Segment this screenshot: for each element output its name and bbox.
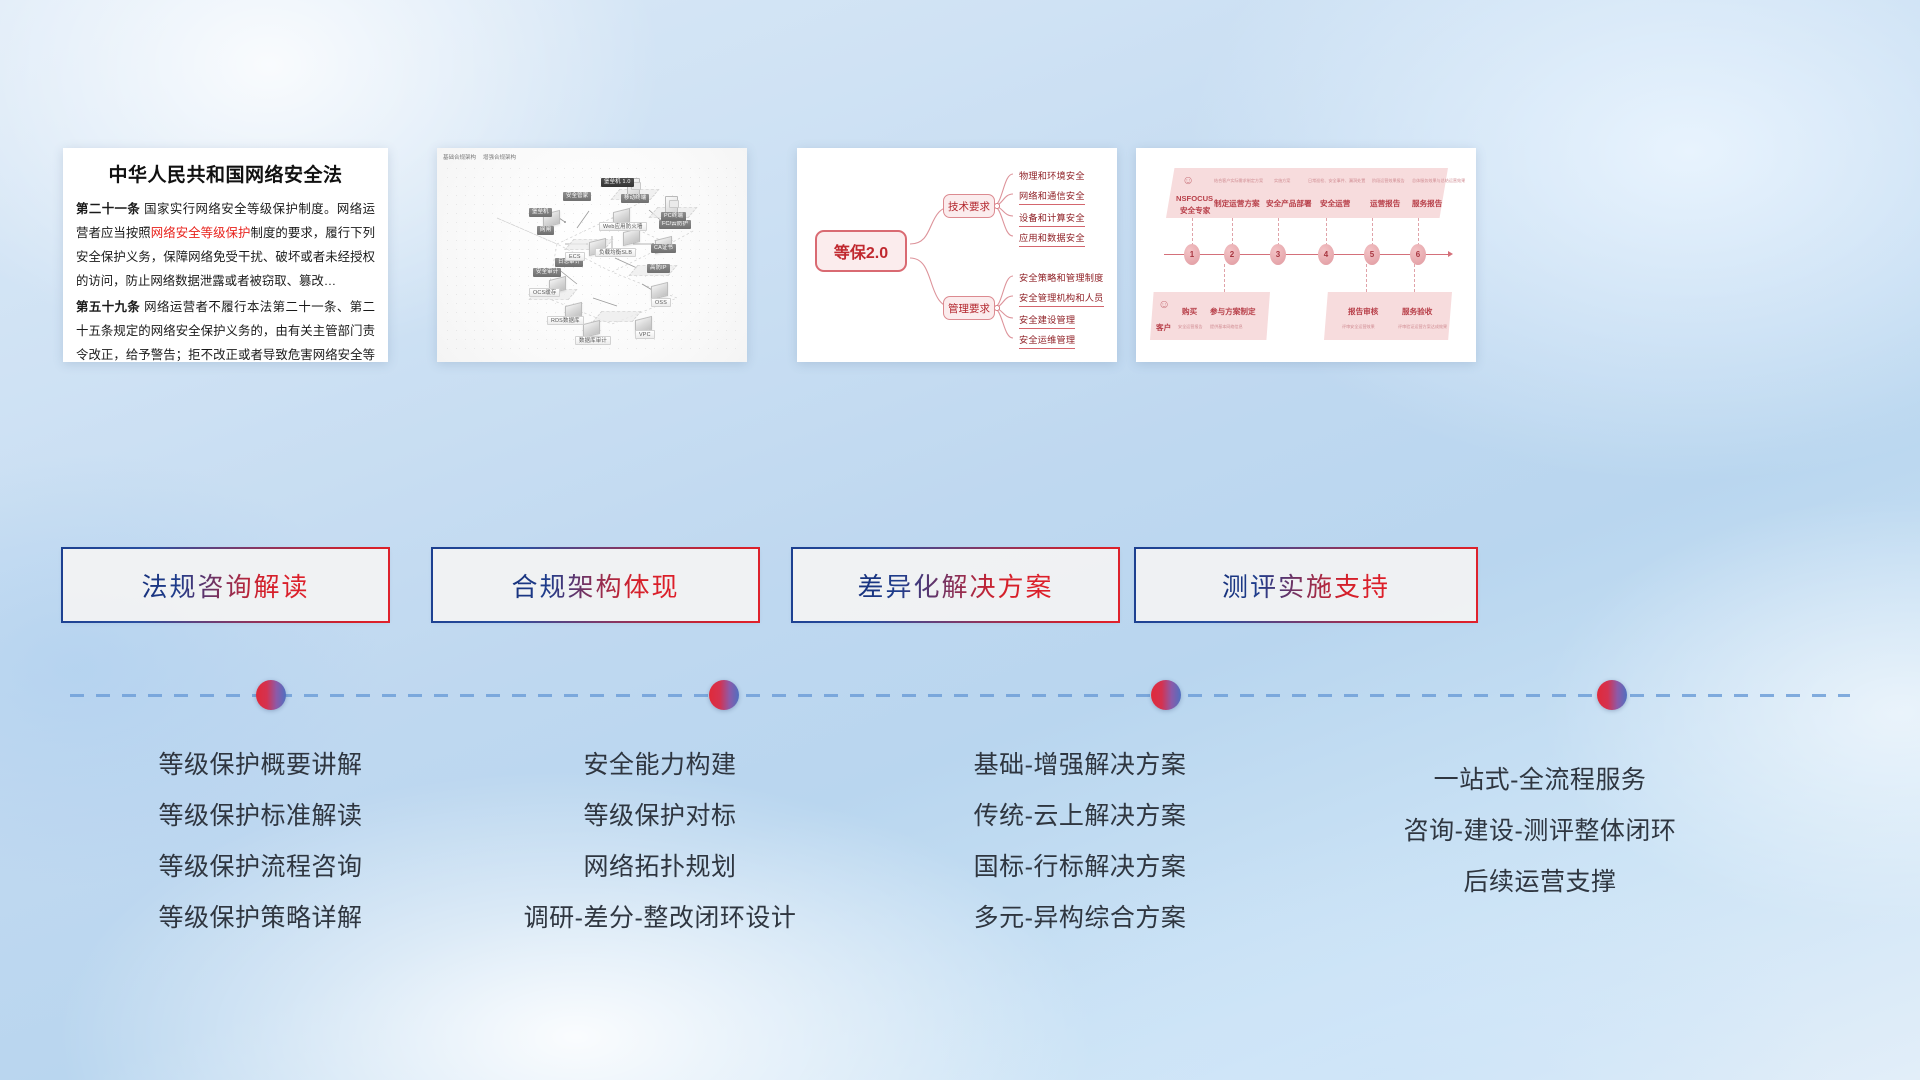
list-item: 基础-增强解决方案 [880, 740, 1280, 791]
list-item: 网络拓扑规划 [460, 842, 860, 893]
detail-column-1: 安全能力构建 等级保护对标 网络拓扑规划 调研-差分-整改闭环设计 [460, 740, 860, 944]
list-item: 后续运营支撑 [1320, 857, 1760, 908]
detail-column-3: 一站式-全流程服务 咨询-建设-测评整体闭环 后续运营支撑 [1320, 755, 1760, 908]
list-item: 一站式-全流程服务 [1320, 755, 1760, 806]
list-item: 等级保护标准解读 [63, 791, 458, 842]
list-item: 咨询-建设-测评整体闭环 [1320, 806, 1760, 857]
detail-column-2: 基础-增强解决方案 传统-云上解决方案 国标-行标解决方案 多元-异构综合方案 [880, 740, 1280, 944]
list-item: 多元-异构综合方案 [880, 893, 1280, 944]
list-item: 等级保护概要讲解 [63, 740, 458, 791]
list-item: 安全能力构建 [460, 740, 860, 791]
list-item: 等级保护对标 [460, 791, 860, 842]
list-item: 等级保护流程咨询 [63, 842, 458, 893]
detail-column-0: 等级保护概要讲解 等级保护标准解读 等级保护流程咨询 等级保护策略详解 [63, 740, 458, 944]
list-item: 国标-行标解决方案 [880, 842, 1280, 893]
list-item: 调研-差分-整改闭环设计 [460, 893, 860, 944]
list-item: 传统-云上解决方案 [880, 791, 1280, 842]
list-item: 等级保护策略详解 [63, 893, 458, 944]
detail-list-row: 等级保护概要讲解 等级保护标准解读 等级保护流程咨询 等级保护策略详解 安全能力… [0, 0, 1920, 1080]
